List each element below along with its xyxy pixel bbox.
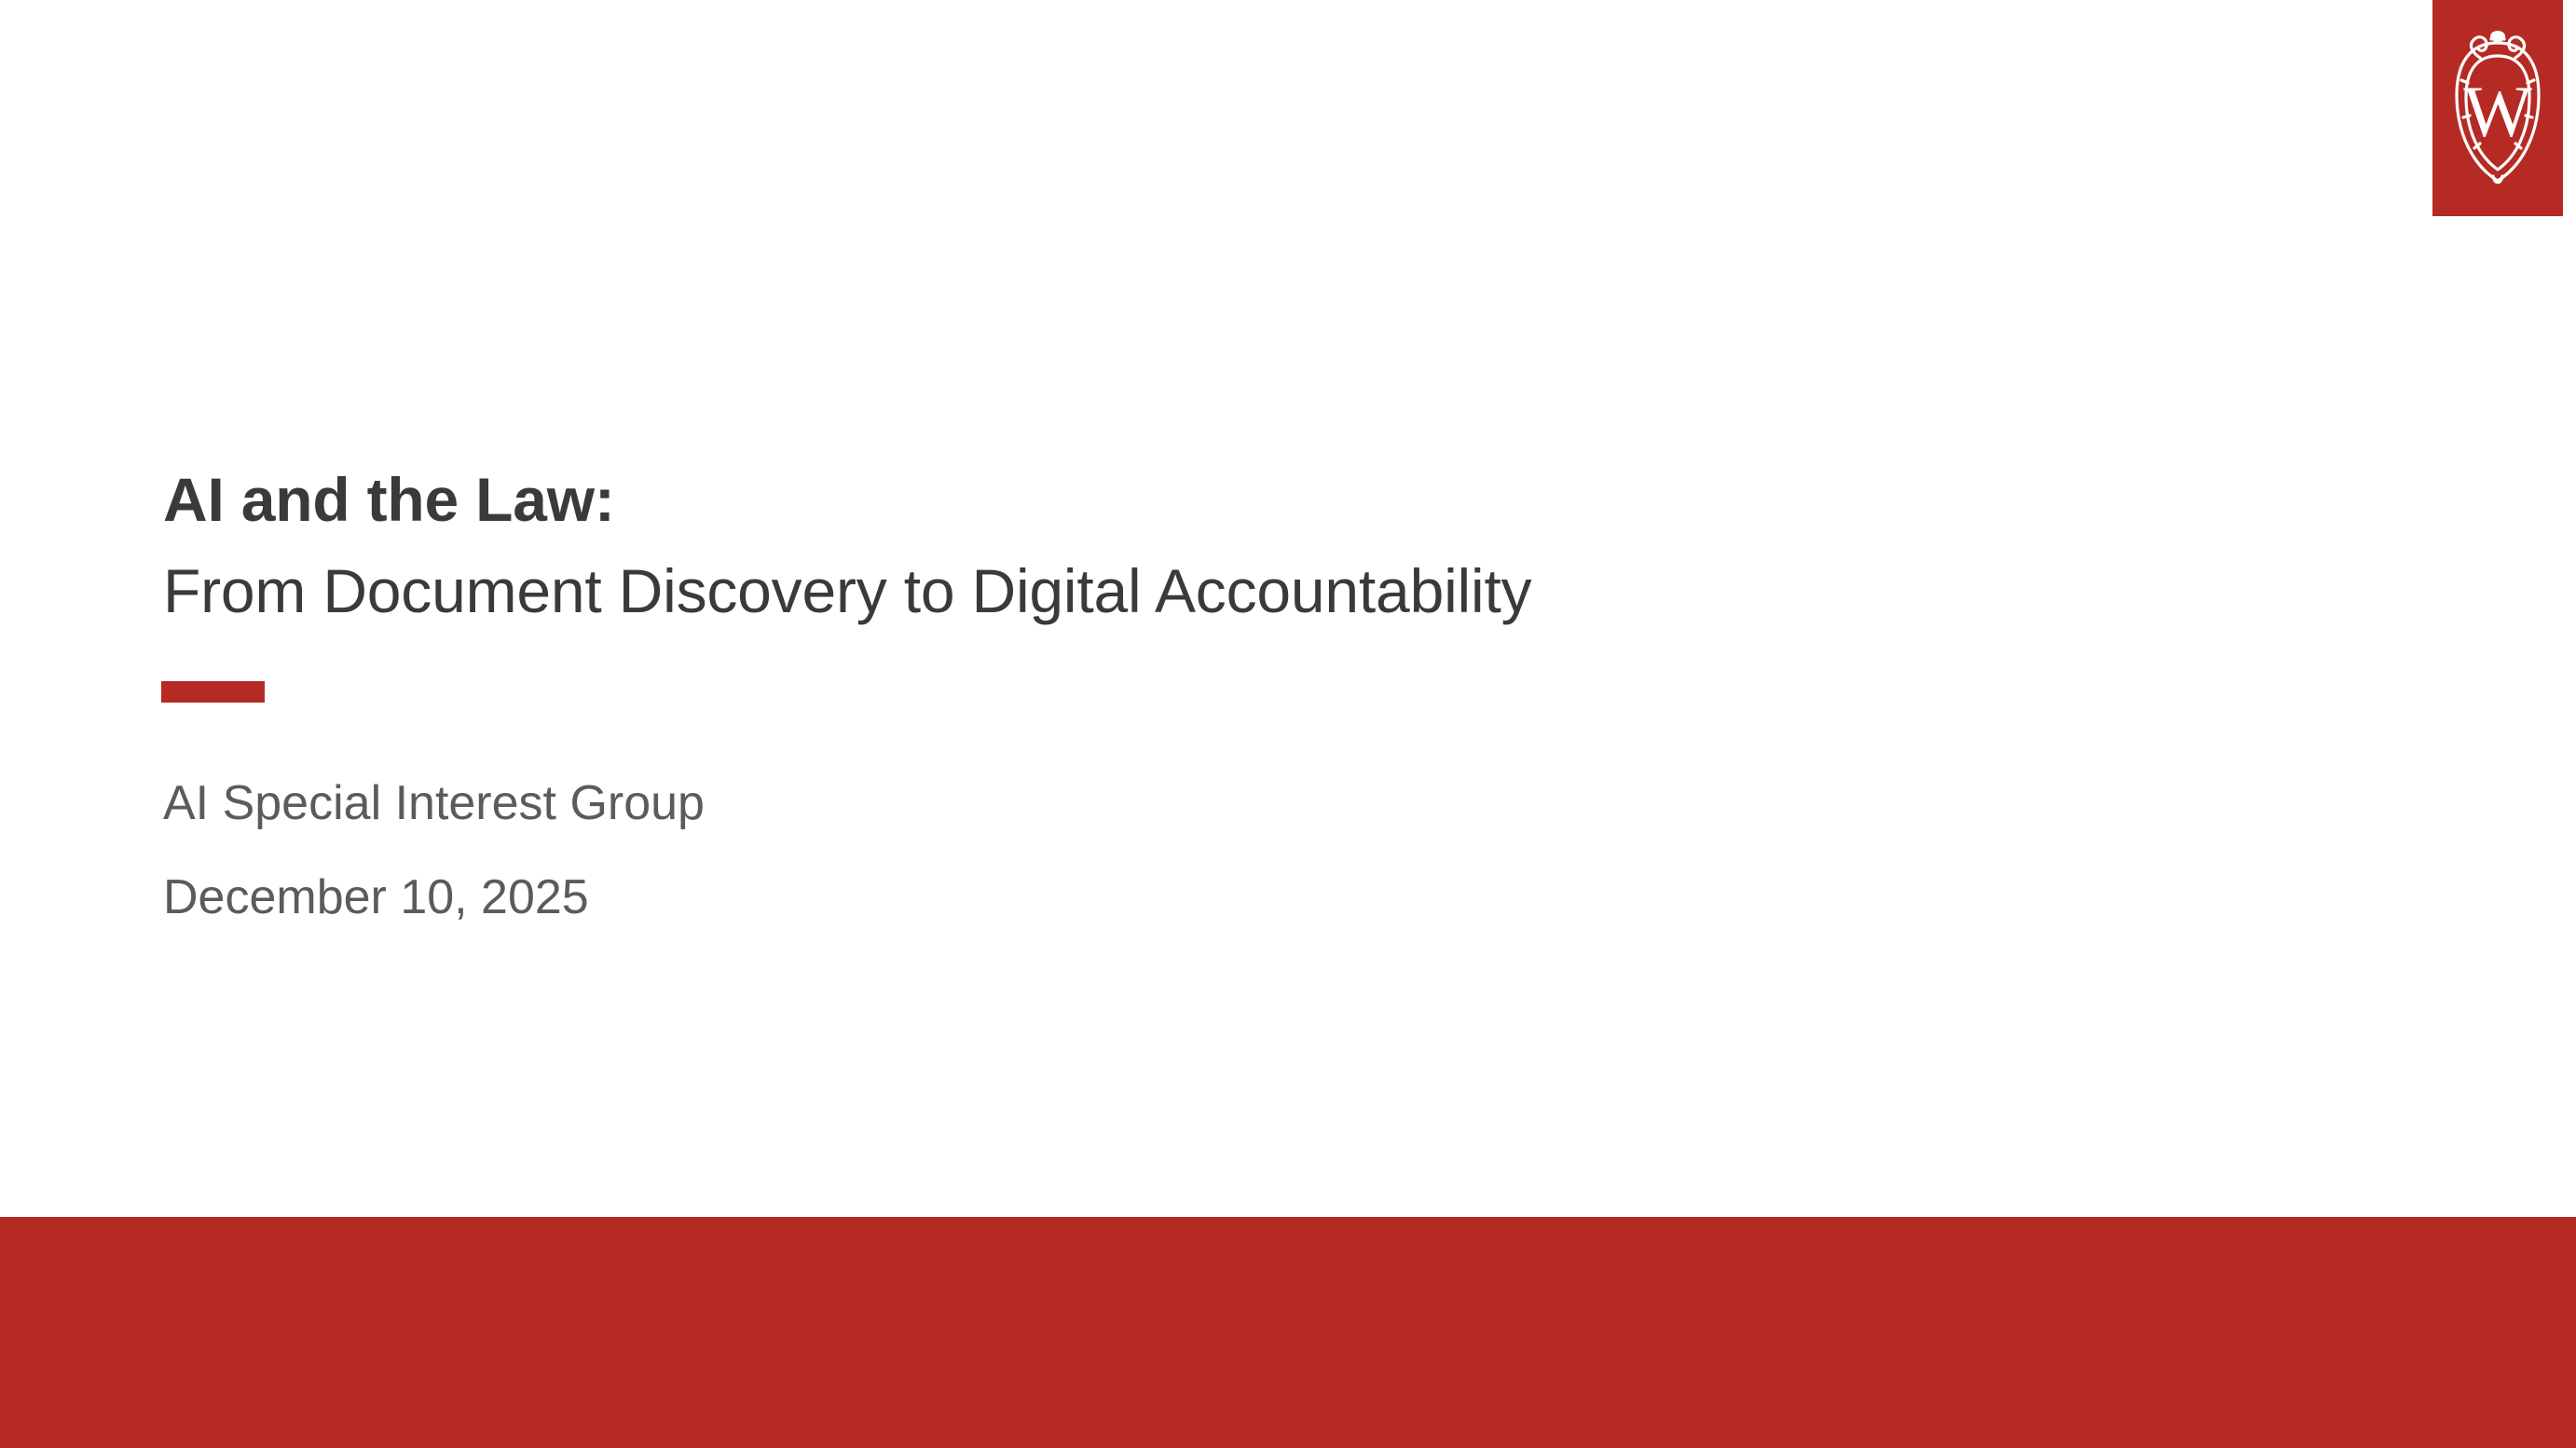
red-accent-dash bbox=[161, 681, 265, 703]
slide-subtitle: AI Special Interest Group December 10, 2… bbox=[163, 757, 2027, 945]
uw-crest-logo-block: W bbox=[2432, 0, 2563, 216]
svg-text:W: W bbox=[2463, 71, 2532, 152]
title-line-1: AI and the Law: bbox=[163, 454, 2027, 545]
title-slide: W AI and the Law: From Document Discover… bbox=[0, 0, 2576, 1448]
subtitle-line-date: December 10, 2025 bbox=[163, 851, 2027, 945]
bottom-red-band bbox=[0, 1217, 2576, 1448]
subtitle-line-group: AI Special Interest Group bbox=[163, 757, 2027, 851]
uw-crest-icon: W bbox=[2449, 26, 2546, 190]
slide-title: AI and the Law: From Document Discovery … bbox=[163, 454, 2027, 636]
title-line-2: From Document Discovery to Digital Accou… bbox=[163, 545, 2027, 636]
